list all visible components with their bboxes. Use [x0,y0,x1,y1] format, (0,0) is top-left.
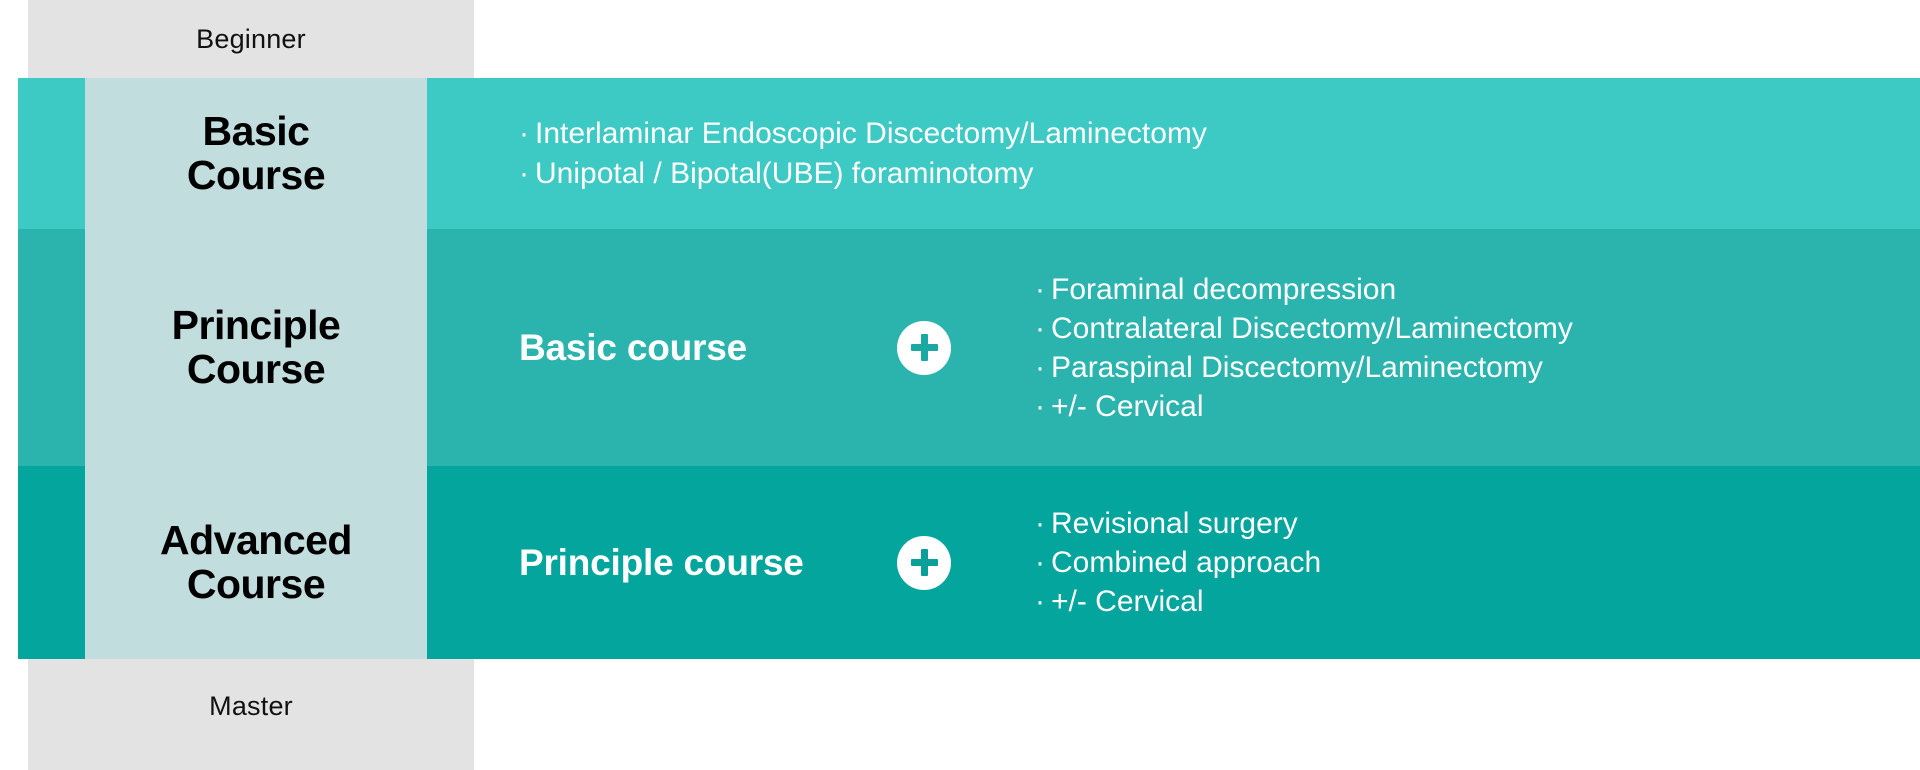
level-label-master: Master [209,691,293,722]
list-item-label: Paraspinal Discectomy/Laminectomy [1051,351,1543,384]
course-name-line-2: Course [160,563,352,606]
list-item-label: Foraminal decompression [1051,273,1396,306]
course-name-line-1: Principle [172,304,341,347]
course-name-basic: Basic Course [85,78,427,229]
curriculum-list-basic: ·Interlaminar Endoscopic Discectomy/Lami… [519,114,1207,193]
list-item: ·Interlaminar Endoscopic Discectomy/Lami… [519,114,1207,154]
prerequisite-label-advanced: Principle course [519,542,897,584]
course-name-line-2: Course [172,348,341,391]
list-item-label: Contralateral Discectomy/Laminectomy [1051,312,1573,345]
list-item-label: Revisional surgery [1051,507,1298,540]
course-name-advanced: Advanced Course [85,466,427,659]
plus-icon [897,321,951,375]
list-item: ·Revisional surgery [1035,504,1321,543]
bullet-dot-icon: · [1035,582,1051,621]
course-row-basic[interactable]: Basic Course ·Interlaminar Endoscopic Di… [18,78,1920,229]
row-accent-stripe-advanced [18,466,85,659]
course-name-line-2: Course [187,154,325,197]
curriculum-list-advanced: ·Revisional surgery ·Combined approach ·… [1035,504,1321,621]
bullet-dot-icon: · [519,114,535,154]
list-item-label: Combined approach [1051,546,1321,579]
course-content-principle: Basic course ·Foraminal decompression ·C… [427,229,1920,466]
list-item: ·Paraspinal Discectomy/Laminectomy [1035,348,1573,387]
course-name-principle: Principle Course [85,229,427,466]
list-item: ·Contralateral Discectomy/Laminectomy [1035,309,1573,348]
list-item: ·+/- Cervical [1035,387,1573,426]
list-item-label: Unipotal / Bipotal(UBE) foraminotomy [535,157,1034,190]
bullet-dot-icon: · [1035,543,1051,582]
list-item: ·Foraminal decompression [1035,270,1573,309]
bullet-dot-icon: · [1035,270,1051,309]
course-row-advanced[interactable]: Advanced Course Principle course ·Revisi… [18,466,1920,659]
bullet-dot-icon: · [1035,504,1051,543]
plus-icon [897,536,951,590]
list-item: ·Combined approach [1035,543,1321,582]
row-accent-stripe-principle [18,229,85,466]
list-item: ·Unipotal / Bipotal(UBE) foraminotomy [519,154,1207,194]
bullet-dot-icon: · [519,154,535,194]
row-accent-stripe-basic [18,78,85,229]
course-ladder: Basic Course ·Interlaminar Endoscopic Di… [0,78,1920,659]
list-item-label: Interlaminar Endoscopic Discectomy/Lamin… [535,117,1207,150]
level-band-beginner: Beginner [28,0,474,78]
course-name-line-1: Advanced [160,519,352,562]
bullet-dot-icon: · [1035,387,1051,426]
level-band-master: Master [28,659,474,770]
bullet-dot-icon: · [1035,348,1051,387]
course-row-principle[interactable]: Principle Course Basic course ·Foraminal… [18,229,1920,466]
course-content-basic: ·Interlaminar Endoscopic Discectomy/Lami… [427,78,1920,229]
level-label-beginner: Beginner [196,24,306,55]
list-item: ·+/- Cervical [1035,582,1321,621]
course-name-line-1: Basic [187,110,325,153]
course-content-advanced: Principle course ·Revisional surgery ·Co… [427,466,1920,659]
bullet-dot-icon: · [1035,309,1051,348]
list-item-label: +/- Cervical [1051,390,1204,423]
list-item-label: +/- Cervical [1051,585,1204,618]
curriculum-list-principle: ·Foraminal decompression ·Contralateral … [1035,270,1573,426]
prerequisite-label-principle: Basic course [519,327,897,369]
